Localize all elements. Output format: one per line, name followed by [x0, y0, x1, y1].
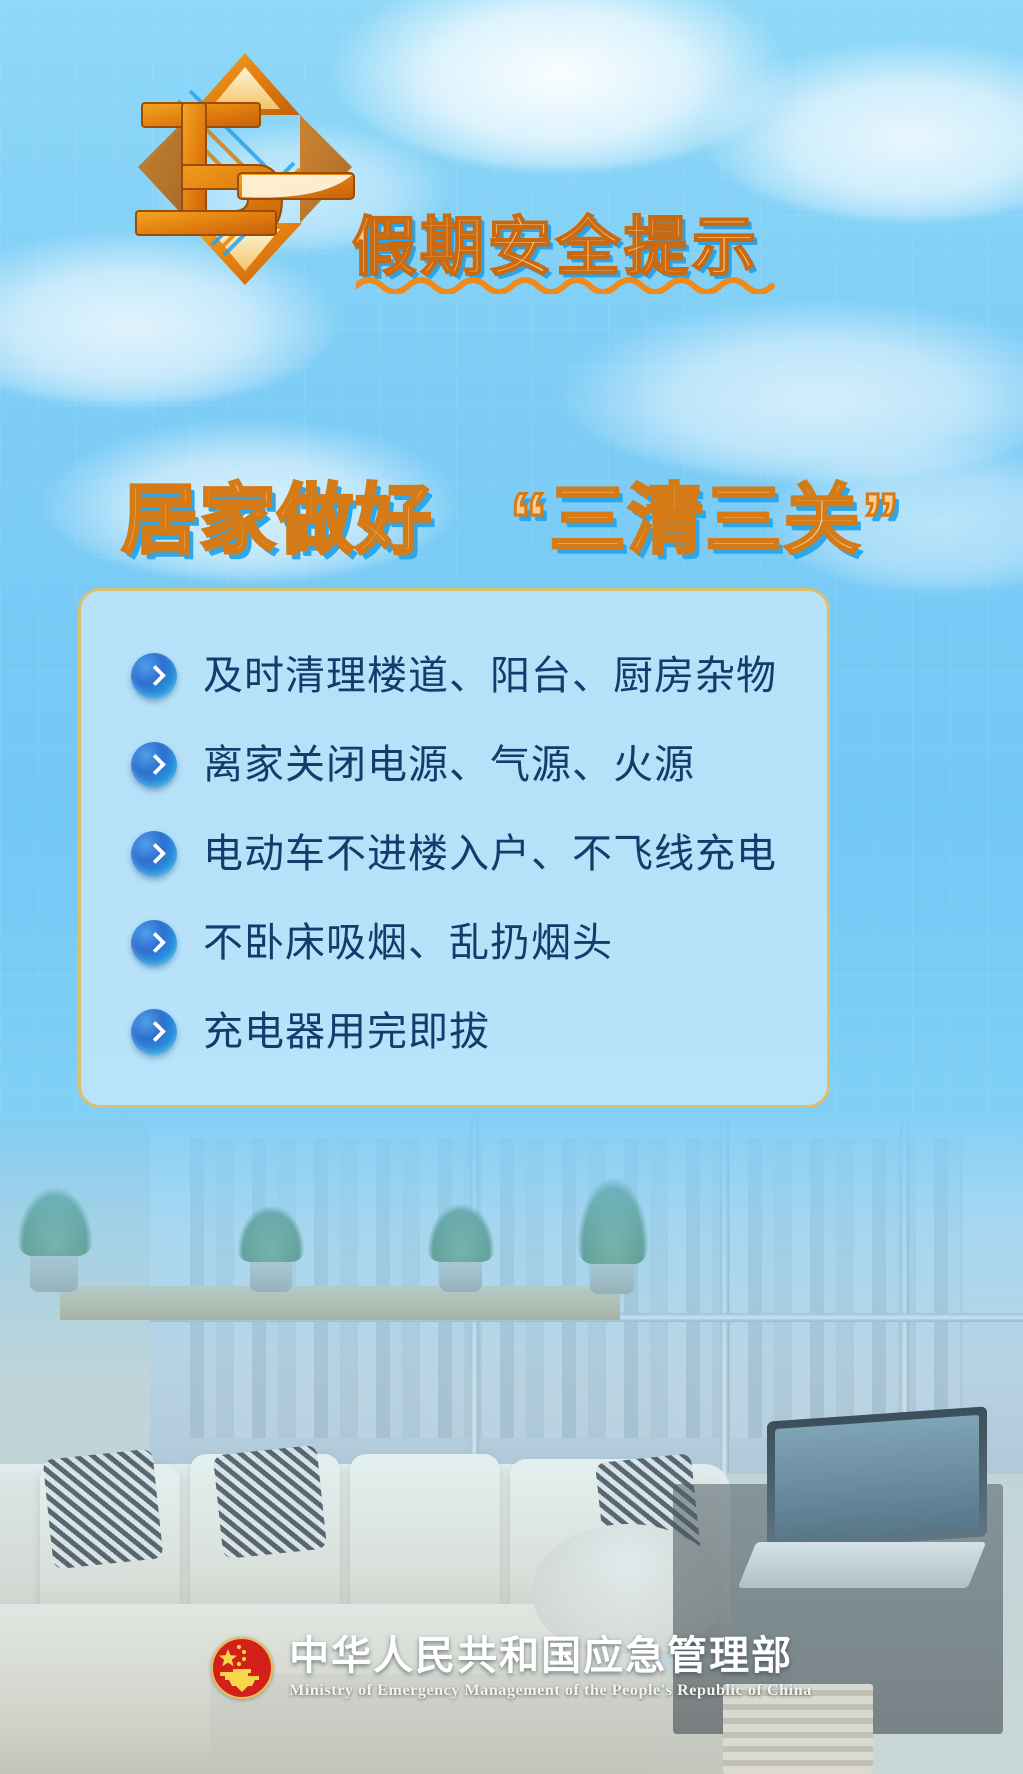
list-item: 离家关闭电源、气源、火源 [81, 720, 827, 809]
footer: 中华人民共和国应急管理部 Ministry of Emergency Manag… [0, 1636, 1023, 1699]
tip-text: 离家关闭电源、气源、火源 [203, 745, 695, 785]
page-title: 居家做好 “三清三关” [0, 458, 1023, 568]
sofa-cushion [350, 1454, 500, 1624]
wuyi-logo-icon [120, 45, 370, 295]
page-title-part1: 居家做好 [121, 478, 433, 563]
patterned-pillow [213, 1445, 327, 1559]
laptop [767, 1406, 987, 1551]
organization-name-en: Ministry of Emergency Management of the … [289, 1683, 812, 1699]
page-title-part2: “三清三关” [510, 478, 902, 563]
chevron-right-circle-icon [131, 653, 177, 699]
window-sill [60, 1286, 620, 1320]
laptop-screen [775, 1415, 979, 1543]
poster-root: 假期安全提示 居家做好 “三清三关” [0, 0, 1023, 1774]
list-item: 充电器用完即拔 [81, 987, 827, 1076]
tips-card: 及时清理楼道、阳台、厨房杂物 离家关闭电源、气源、火源 电动车不进楼入户、不飞线… [78, 588, 830, 1108]
list-item: 不卧床吸烟、乱扔烟头 [81, 898, 827, 987]
footer-text-block: 中华人民共和国应急管理部 Ministry of Emergency Manag… [289, 1636, 812, 1699]
tips-list: 及时清理楼道、阳台、厨房杂物 离家关闭电源、气源、火源 电动车不进楼入户、不飞线… [81, 631, 827, 1076]
potted-plant [578, 1178, 648, 1264]
tip-text: 及时清理楼道、阳台、厨房杂物 [203, 656, 777, 696]
tip-text: 电动车不进楼入户、不飞线充电 [203, 834, 777, 874]
china-national-emblem-icon [211, 1637, 273, 1699]
poster-header: 假期安全提示 [0, 0, 1023, 340]
patterned-pillow [43, 1449, 164, 1570]
potted-plant [238, 1206, 304, 1262]
tip-text: 充电器用完即拔 [203, 1012, 490, 1052]
chevron-right-circle-icon [131, 831, 177, 877]
chevron-right-circle-icon [131, 920, 177, 966]
organization-name-cn: 中华人民共和国应急管理部 [289, 1636, 812, 1676]
list-item: 及时清理楼道、阳台、厨房杂物 [81, 631, 827, 720]
window-mullion [720, 1118, 729, 1474]
list-item: 电动车不进楼入户、不飞线充电 [81, 809, 827, 898]
keyboard [738, 1542, 987, 1588]
potted-plant [428, 1204, 494, 1262]
tip-text: 不卧床吸烟、乱扔烟头 [203, 923, 613, 963]
potted-plant [18, 1188, 92, 1256]
chevron-right-circle-icon [131, 1009, 177, 1055]
chevron-right-circle-icon [131, 742, 177, 788]
wavy-underline-decoration [356, 272, 776, 294]
